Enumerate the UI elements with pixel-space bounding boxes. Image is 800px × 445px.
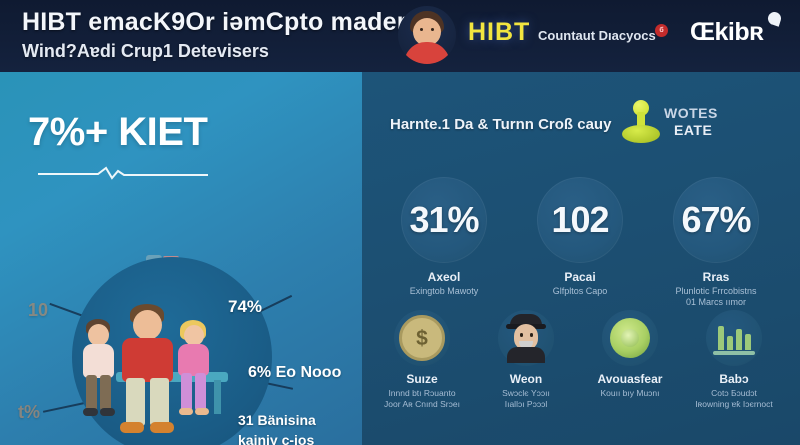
bar	[727, 336, 733, 350]
person-eye-left	[520, 333, 523, 337]
person-head	[88, 324, 109, 346]
person-torso	[83, 344, 114, 378]
person-cap-icon	[503, 314, 549, 362]
bar-chart-icon	[713, 321, 755, 355]
avatar-eye-left	[420, 28, 423, 31]
feature-card-chart[interactable]: Babɔ Cotɔ Бɔudɔt Ιʀowninɡ ɐƙ Ιɔєrnoct	[682, 310, 786, 410]
secondary-logo[interactable]: Œkibʀ	[690, 18, 763, 47]
card-subtext: Kouıı bıу Muɔnı	[578, 388, 682, 399]
left-label-faint-pct: t%	[18, 402, 40, 423]
person-leg	[150, 378, 169, 426]
avatar-eye-right	[431, 28, 434, 31]
page-header: HIBT emacK9Or iəmCpto mader! Wind?Aɐdi C…	[0, 0, 800, 72]
right-panel-tag-line1: WOTES	[664, 105, 718, 121]
header-subtitle: Countaut Dıacyocs	[538, 28, 656, 43]
card-icon-wrap	[706, 310, 762, 366]
bar	[745, 334, 751, 350]
card-subtext: Cotɔ Бɔudɔt Ιʀowninɡ ɐƙ Ιɔєrnoct	[682, 388, 786, 410]
card-label: Babɔ	[682, 372, 786, 386]
card-label: Suıze	[370, 372, 474, 386]
stat-value: 67%	[681, 199, 750, 241]
right-panel-headline: Harnte.1 Da & Turnn Croß cauу	[390, 116, 611, 133]
person-head	[133, 310, 162, 340]
bar	[736, 329, 742, 350]
stat-card[interactable]: 102 Pacai Glfpltos Capo	[516, 177, 644, 297]
stat-subtext: Glfpltos Capo	[516, 286, 644, 297]
secondary-logo-mark-icon	[766, 10, 782, 26]
dollar-coin-icon: $	[399, 315, 445, 361]
person-leg	[181, 373, 192, 411]
stat-circle: 102	[537, 177, 623, 263]
person-shoe	[83, 408, 98, 416]
header-title-line1: HIBT emacK9Or iəmCpto mader!	[22, 8, 402, 37]
left-panel: 7%+ KIET	[0, 72, 362, 445]
stat-subtext: Plunlotic Frrcobistns 01 Marcs ıımor	[652, 286, 780, 309]
joystick-icon	[620, 100, 662, 146]
card-label: Weon	[474, 372, 578, 386]
notification-badge[interactable]: б	[655, 24, 668, 37]
stat-label: Rras	[652, 270, 780, 284]
joystick-base	[622, 125, 660, 143]
notification-badge-count: б	[659, 27, 663, 34]
avatar[interactable]	[398, 6, 456, 64]
feature-card-sphere[interactable]: Avouasfear Kouıı bıу Muɔnı	[578, 310, 682, 399]
person-torso	[178, 344, 209, 376]
header-title-line2: Wind?Aɐdi Crup1 Detevisers	[22, 41, 402, 62]
person-leg	[86, 375, 97, 411]
left-label-faint-10: 10	[28, 300, 48, 321]
right-panel: Harnte.1 Da & Turnn Croß cauу WOTES EATE…	[362, 72, 800, 445]
feature-card-person[interactable]: Weon Swɔclє Yɔɔıı Ιıallɔı Pɔɔɔl	[474, 310, 578, 410]
person-head	[184, 325, 204, 346]
person-leg	[126, 378, 145, 426]
stat-circle: 67%	[673, 177, 759, 263]
left-label-31-line1: 31 Bänisina	[238, 412, 316, 428]
person-torso	[122, 338, 173, 382]
person-shoe	[195, 408, 209, 415]
stat-label: Pacai	[516, 270, 644, 284]
person-shirt	[507, 347, 545, 363]
stat-circle: 31%	[401, 177, 487, 263]
card-icon-wrap: $	[394, 310, 450, 366]
card-icon-wrap	[498, 310, 554, 366]
green-sphere-icon	[610, 318, 650, 358]
person-eye-right	[530, 333, 533, 337]
right-panel-tag-line2: EATE	[674, 122, 712, 138]
feature-card-coin[interactable]: $ Suıze Innnd btı Rɔuanto Joor Aʀ Cnınd …	[370, 310, 474, 410]
bench-leg	[214, 380, 221, 414]
brand-logo[interactable]: HIBT	[468, 18, 530, 47]
person-shoe	[179, 408, 193, 415]
person-leg	[195, 373, 206, 411]
person-shoe	[100, 408, 115, 416]
card-label: Avouasfear	[578, 372, 682, 386]
card-subtext: Innnd btı Rɔuanto Joor Aʀ Cnınd Srɔeı	[370, 388, 474, 410]
left-label-6pct: 6% Εo Nooo	[248, 364, 341, 382]
left-panel-headline: 7%+ KIET	[28, 110, 207, 155]
card-subtext: Swɔclє Yɔɔıı Ιıallɔı Pɔɔɔl	[474, 388, 578, 410]
stat-label: Axeol	[380, 270, 508, 284]
avatar-body	[404, 42, 450, 64]
stat-value: 31%	[409, 199, 478, 241]
infographic-root: HIBT emacK9Or iəmCpto mader! Wind?Aɐdi C…	[0, 0, 800, 445]
dollar-glyph: $	[416, 328, 428, 349]
person-shoe	[150, 422, 174, 433]
stat-card[interactable]: 31% Axeol Exingtob Mawoty	[380, 177, 508, 297]
heartbeat-divider-icon	[38, 166, 208, 180]
bar	[718, 326, 724, 350]
stat-card[interactable]: 67% Rras Plunlotic Frrcobistns 01 Marcs …	[652, 177, 780, 309]
left-label-31-line2: kainiу c-joş	[238, 432, 314, 445]
person-leg	[100, 375, 111, 411]
bar-chart-baseline	[713, 351, 755, 355]
card-icon-wrap	[602, 310, 658, 366]
left-label-74: 74%	[228, 297, 262, 317]
person-shoe	[120, 422, 144, 433]
stat-subtext: Exingtob Mawoty	[380, 286, 508, 297]
header-titles: HIBT emacK9Or iəmCpto mader! Wind?Aɐdi C…	[22, 8, 402, 62]
stat-value: 102	[551, 199, 608, 241]
